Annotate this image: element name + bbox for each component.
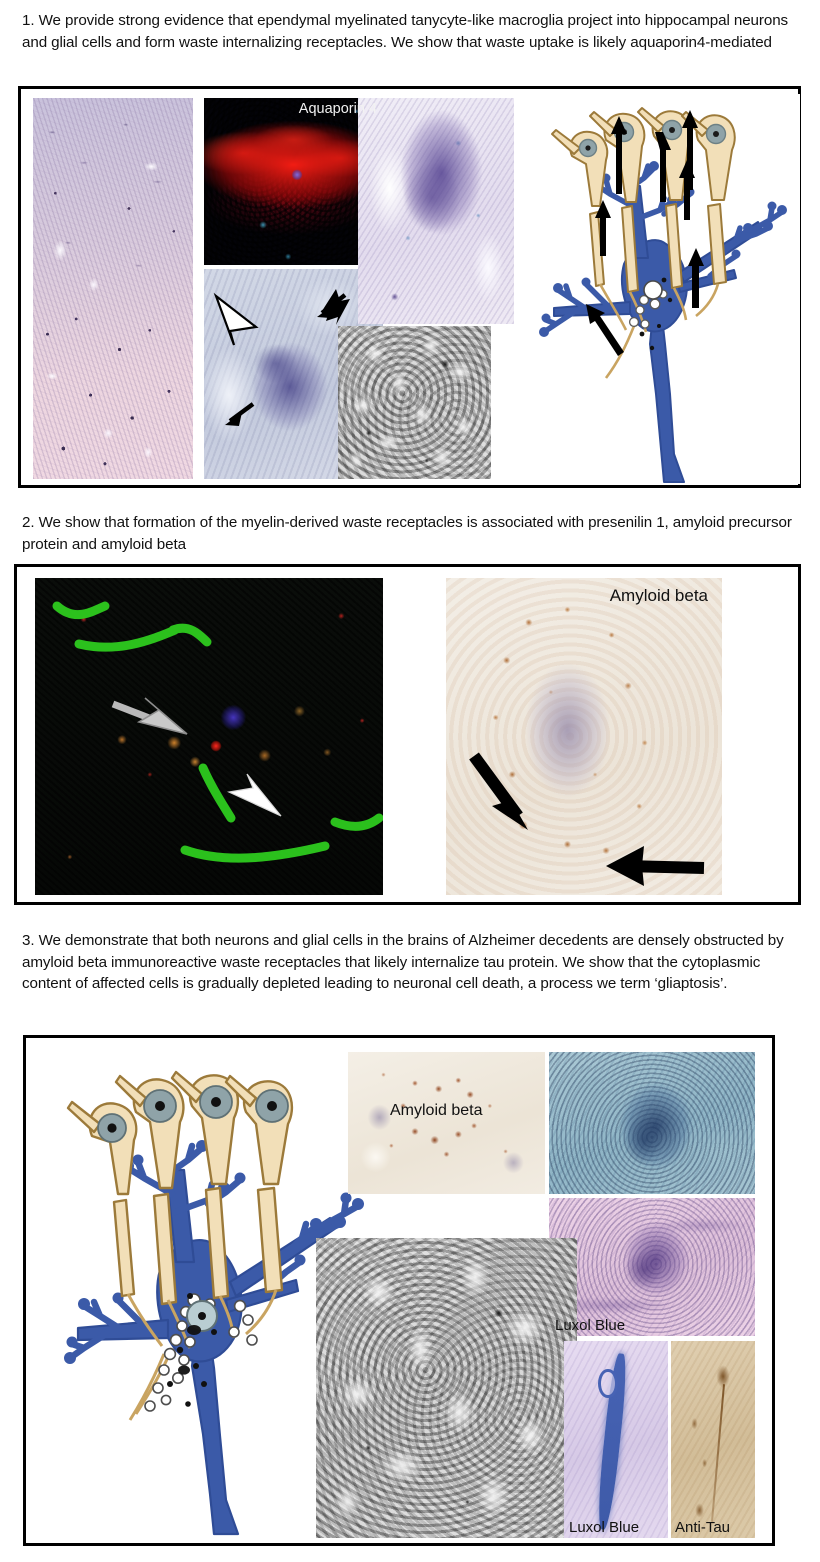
figure-page: { "figure": { "title": "Graphical abstra…	[0, 0, 820, 1562]
aquaporin4-immunofluorescence-image: Aquaporin 4	[204, 98, 383, 265]
panel-3-caption: 3. We demonstrate that both neurons and …	[22, 930, 812, 995]
luxol-blue-label-fiber: Luxol Blue	[569, 1519, 639, 1536]
electron-microscopy-large-image	[316, 1238, 577, 1538]
panel-2-caption: 2. We show that formation of the myelin-…	[22, 512, 812, 555]
panel-2-frame: Amyloid beta	[14, 564, 801, 905]
gray-arrow	[113, 698, 187, 734]
blue-teal-cell-image	[549, 1052, 755, 1194]
tanycyte-schematic-image	[514, 94, 800, 484]
anti-tau-fiber-image: Anti-Tau	[671, 1341, 755, 1538]
triple-fluorescence-image	[35, 578, 383, 895]
panel-3-frame: Amyloid beta Luxol Blue Luxol Blue Anti-…	[23, 1035, 775, 1546]
white-arrowhead	[229, 774, 281, 816]
amyloid-beta-plaque-image: Amyloid beta	[348, 1052, 545, 1194]
purple-stained-cell-image	[358, 98, 525, 324]
black-arrow-upper	[474, 756, 528, 830]
amyloid-beta-label-panel2: Amyloid beta	[610, 586, 708, 606]
black-arrow-lower	[606, 846, 704, 886]
panel-1-caption: 1. We provide strong evidence that epend…	[22, 10, 812, 53]
electron-microscopy-inset-image	[338, 326, 491, 479]
nucleus-vesicle	[644, 281, 662, 299]
amyloid-annotation-overlay	[446, 578, 722, 895]
histology-he-image	[33, 98, 193, 479]
anti-tau-label: Anti-Tau	[675, 1519, 730, 1536]
amyloid-beta-immunostain-image: Amyloid beta	[446, 578, 722, 895]
panel-1-frame: Aquaporin 4	[18, 86, 801, 488]
tanycyte-schematic-svg	[514, 94, 800, 484]
amyloid-beta-label-panel3: Amyloid beta	[390, 1102, 483, 1120]
luxol-blue-cell-image: Luxol Blue	[549, 1198, 755, 1336]
luxol-blue-fiber-image: Luxol Blue	[564, 1341, 668, 1538]
fluorescence-annotation-overlay	[35, 578, 383, 895]
